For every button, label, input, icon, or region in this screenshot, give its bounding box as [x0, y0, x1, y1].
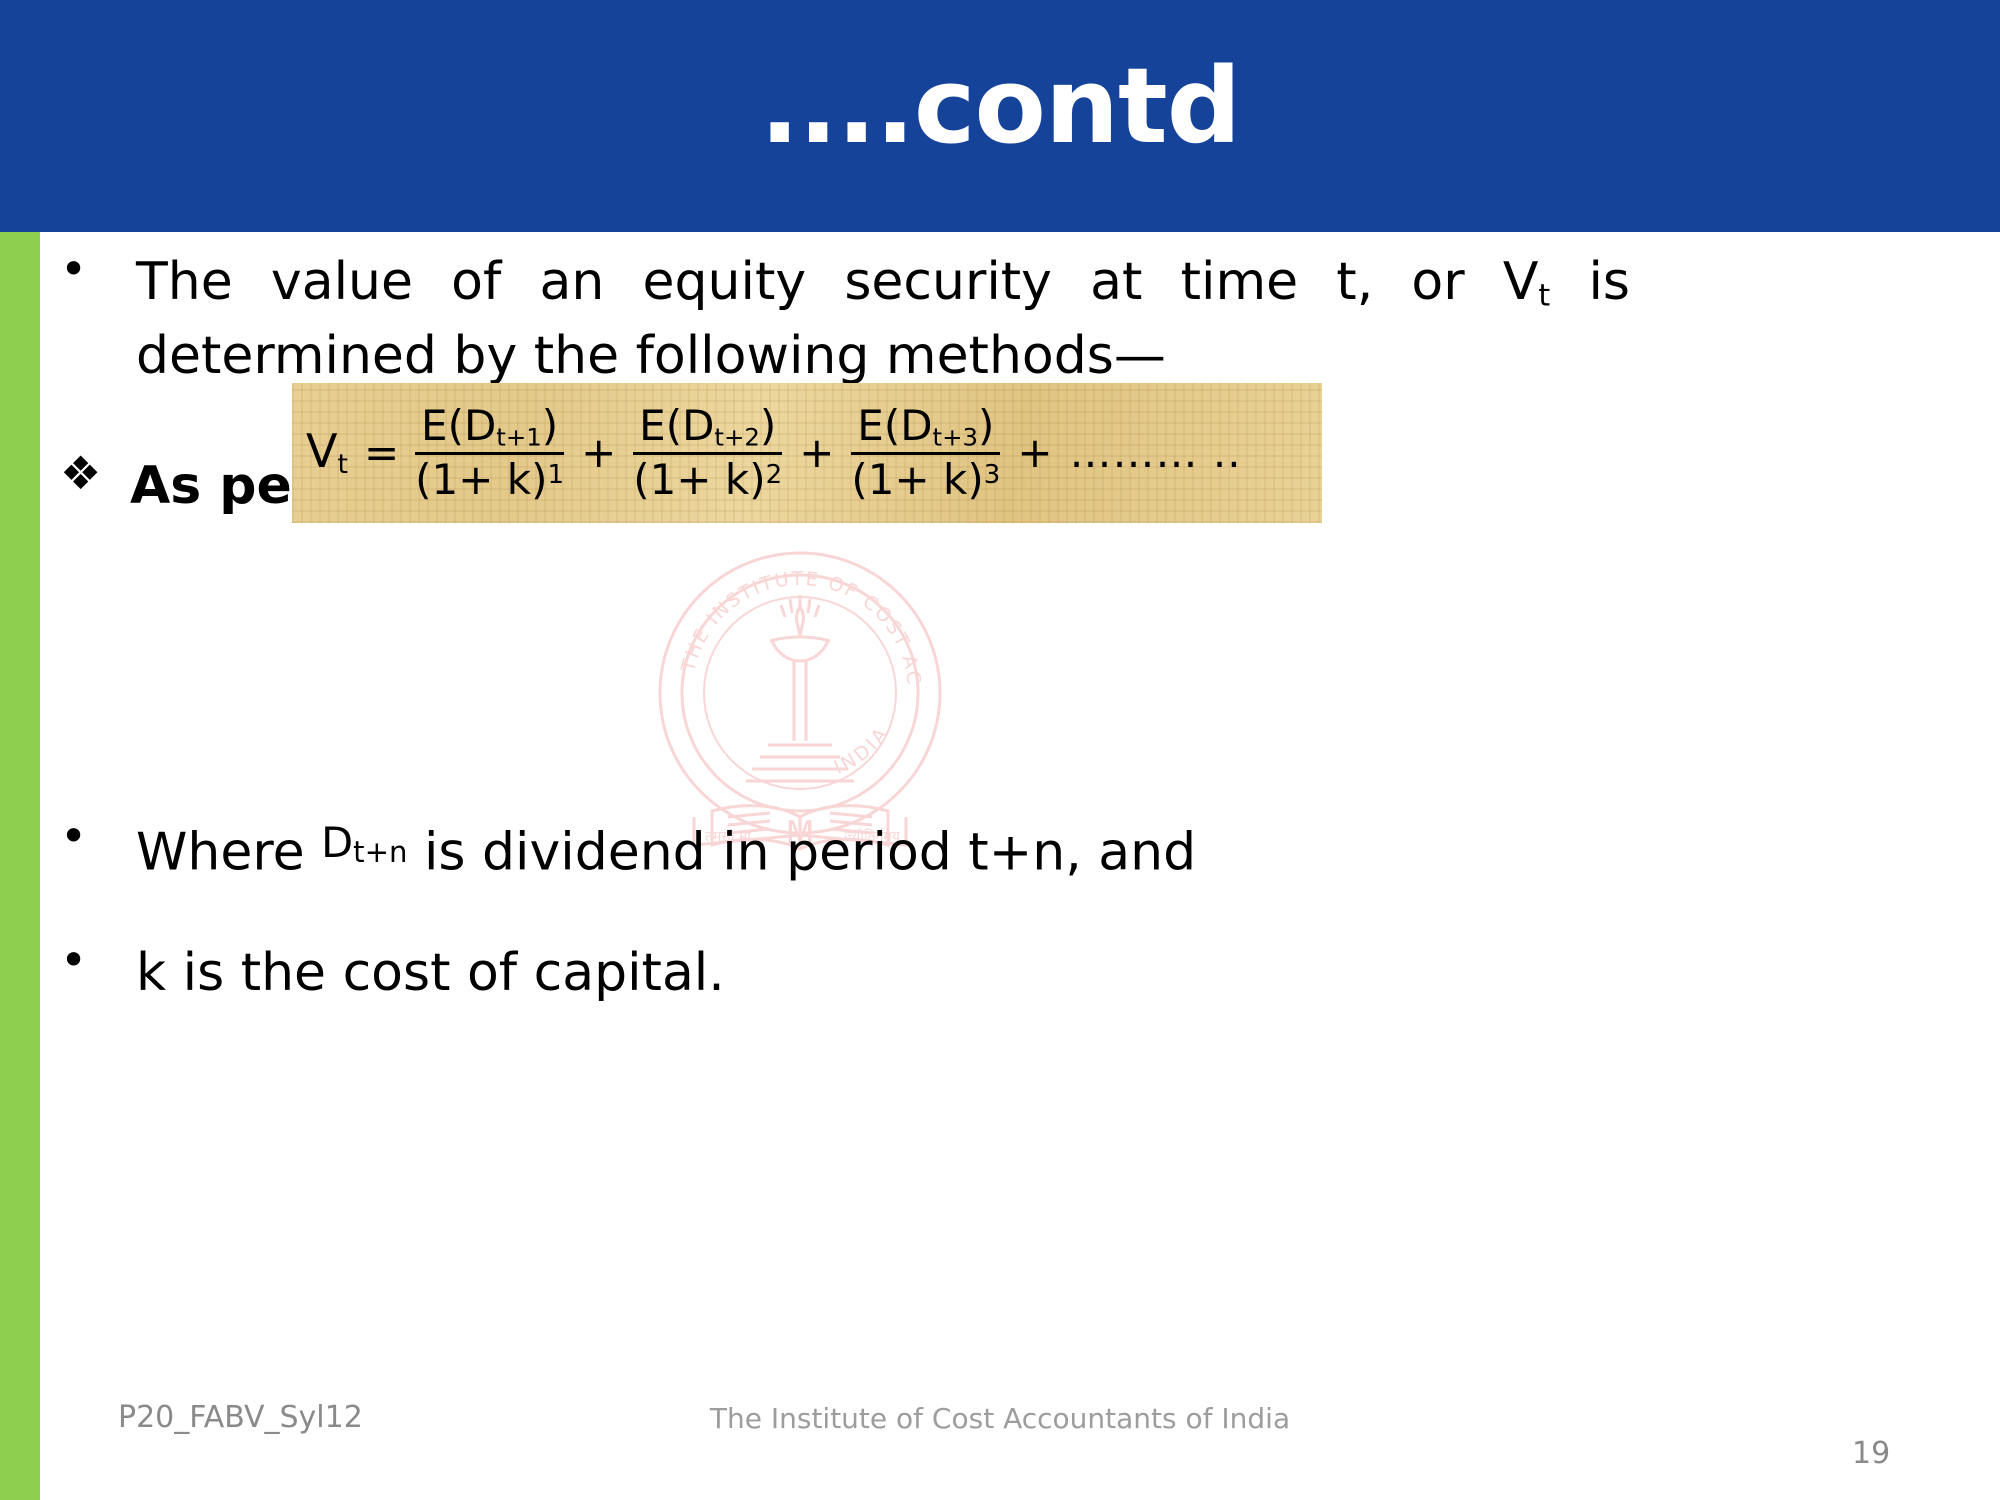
formula-term-3-denominator: (1+ k)3	[845, 455, 1006, 501]
formula-plus-3: +	[1006, 432, 1063, 474]
bullet-value-line1: The value of an equity security at time …	[136, 246, 1630, 320]
bullet-where-suffix: is dividend in period t+n, and	[407, 823, 1196, 883]
bullet-marker-dot: •	[60, 937, 136, 983]
formula-term-2-numerator: E(Dt+2)	[633, 405, 782, 456]
formula-plus-2: +	[788, 432, 845, 474]
bullet-value-line1-main: The value of an equity security at time …	[136, 252, 1538, 312]
bullet-where-text: Where Dt+n is dividend in period t+n, an…	[136, 813, 1950, 890]
formula-term-3-numerator: E(Dt+3)	[851, 405, 1000, 456]
dividend-symbol-subscript: t+n	[353, 836, 407, 870]
bullet-marker-diamond-icon: ❖	[60, 450, 130, 496]
formula-lhs: Vt	[306, 428, 354, 479]
formula-term-3-num-sub: t+3	[933, 422, 978, 451]
formula-term-3-den-exponent: 3	[984, 460, 1001, 490]
v-subscript-t: t	[1538, 279, 1550, 314]
bullet-k-text: k is the cost of capital.	[136, 937, 1950, 1011]
formula-term-3-num-base: E(D	[857, 401, 932, 450]
dividend-symbol-base: D	[321, 818, 353, 867]
formula-trailing-ellipsis: ……… ..	[1064, 432, 1242, 474]
bullet-where-prefix: Where	[136, 823, 321, 883]
formula-term-2-num-sub: t+2	[714, 422, 759, 451]
formula-term-1-numerator: E(Dt+1)	[415, 405, 564, 456]
bullet-value-line1-tail: is	[1550, 252, 1630, 312]
formula-term-1: E(Dt+1) (1+ k)1	[409, 405, 570, 502]
formula-term-2-den-exponent: 2	[766, 460, 783, 490]
formula-term-1-num-tail: )	[542, 401, 558, 450]
bullet-item-value: • The value of an equity security at tim…	[60, 246, 1950, 394]
formula-term-3-den-base: (1+ k)	[851, 455, 983, 504]
formula-plus-1: +	[570, 432, 627, 474]
bullet-marker-dot: •	[60, 246, 136, 292]
formula-term-1-num-base: E(D	[421, 401, 496, 450]
bullet-value-text: The value of an equity security at time …	[136, 246, 1950, 394]
formula-lhs-base: V	[306, 424, 337, 478]
left-accent-bar	[0, 232, 40, 1500]
bullet-marker-dot: •	[60, 813, 136, 859]
formula-term-3-num-tail: )	[978, 401, 994, 450]
formula-term-2-denominator: (1+ k)2	[627, 455, 788, 501]
formula-lhs-subscript: t	[337, 449, 347, 480]
formula-term-2-num-base: E(D	[639, 401, 714, 450]
bullet-item-cost-of-capital: • k is the cost of capital.	[60, 937, 1950, 1011]
formula-term-2-den-base: (1+ k)	[633, 455, 765, 504]
page-title: ....contd	[0, 52, 2000, 161]
formula-term-2: E(Dt+2) (1+ k)2	[627, 405, 788, 502]
bullet-item-where: • Where Dt+n is dividend in period t+n, …	[60, 813, 1950, 890]
formula-equals-sign: =	[354, 432, 409, 474]
formula-expression: Vt = E(Dt+1) (1+ k)1 + E(Dt+2) (1+ k)2 +…	[306, 405, 1242, 502]
formula-term-1-denominator: (1+ k)1	[409, 455, 570, 501]
footer-institute-name: The Institute of Cost Accountants of Ind…	[0, 1402, 2000, 1435]
formula-term-3: E(Dt+3) (1+ k)3	[845, 405, 1006, 502]
dividend-discount-formula-box: Vt = E(Dt+1) (1+ k)1 + E(Dt+2) (1+ k)2 +…	[292, 383, 1322, 523]
formula-term-2-num-tail: )	[760, 401, 776, 450]
formula-term-1-num-sub: t+1	[496, 422, 541, 451]
slide-footer: P20_FABV_Syl12 The Institute of Cost Acc…	[0, 1400, 2000, 1500]
formula-term-1-den-base: (1+ k)	[415, 455, 547, 504]
title-band: ....contd	[0, 0, 2000, 232]
formula-term-1-den-exponent: 1	[548, 460, 565, 490]
page-number: 19	[1852, 1436, 1890, 1471]
dividend-symbol: Dt+n	[321, 818, 407, 867]
